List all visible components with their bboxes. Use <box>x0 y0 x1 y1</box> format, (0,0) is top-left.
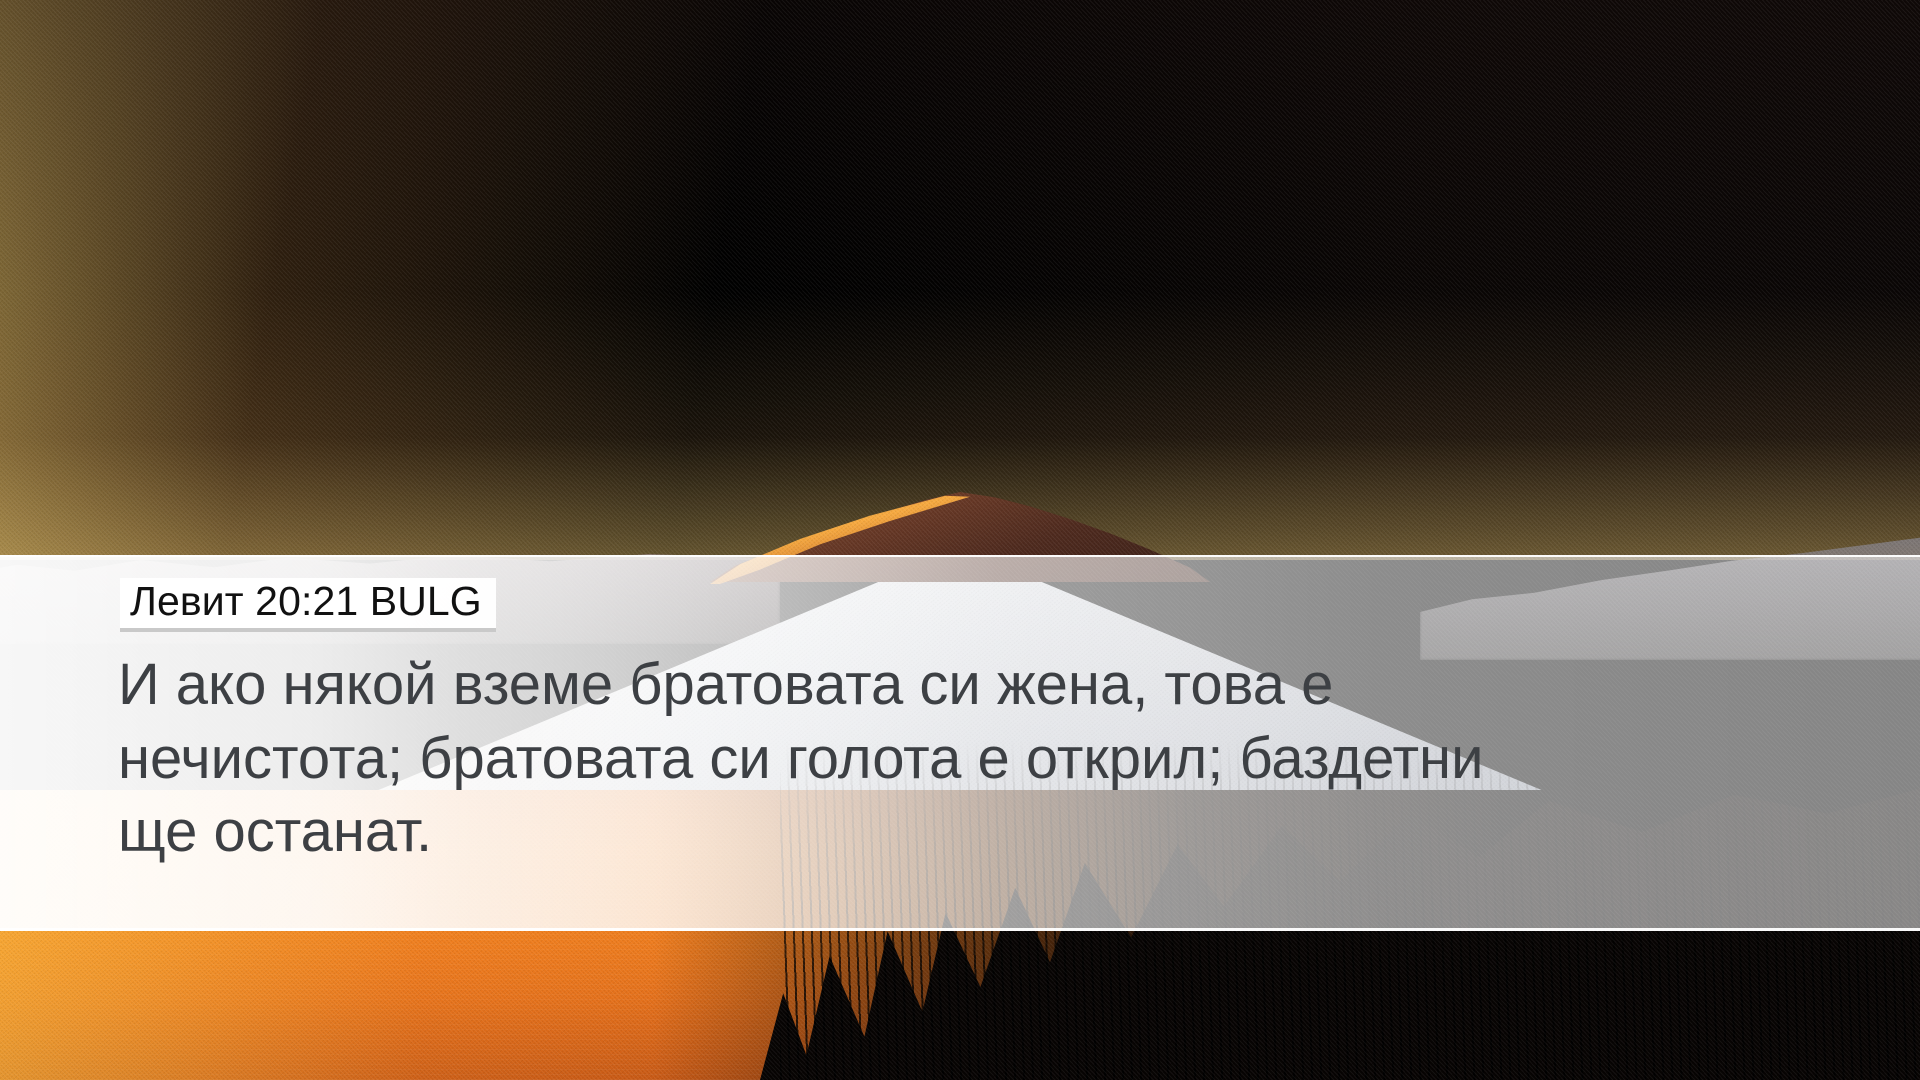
verse-line-3: ще останат. <box>118 795 1478 869</box>
verse-line-2: нечистота; братовата си голота е открил;… <box>118 722 1478 796</box>
scripture-reference-label: Левит 20:21 BULG <box>130 578 482 624</box>
sky-horizon-glow <box>0 0 1920 560</box>
verse-image-canvas: Левит 20:21 BULG И ако някой вземе брато… <box>0 0 1920 1080</box>
verse-text: И ако някой вземе братовата си жена, тов… <box>118 648 1478 869</box>
verse-line-1: И ако някой вземе братовата си жена, тов… <box>118 648 1478 722</box>
scripture-reference: Левит 20:21 BULG <box>120 578 496 632</box>
scripture-reference-box: Левит 20:21 BULG <box>120 578 496 632</box>
